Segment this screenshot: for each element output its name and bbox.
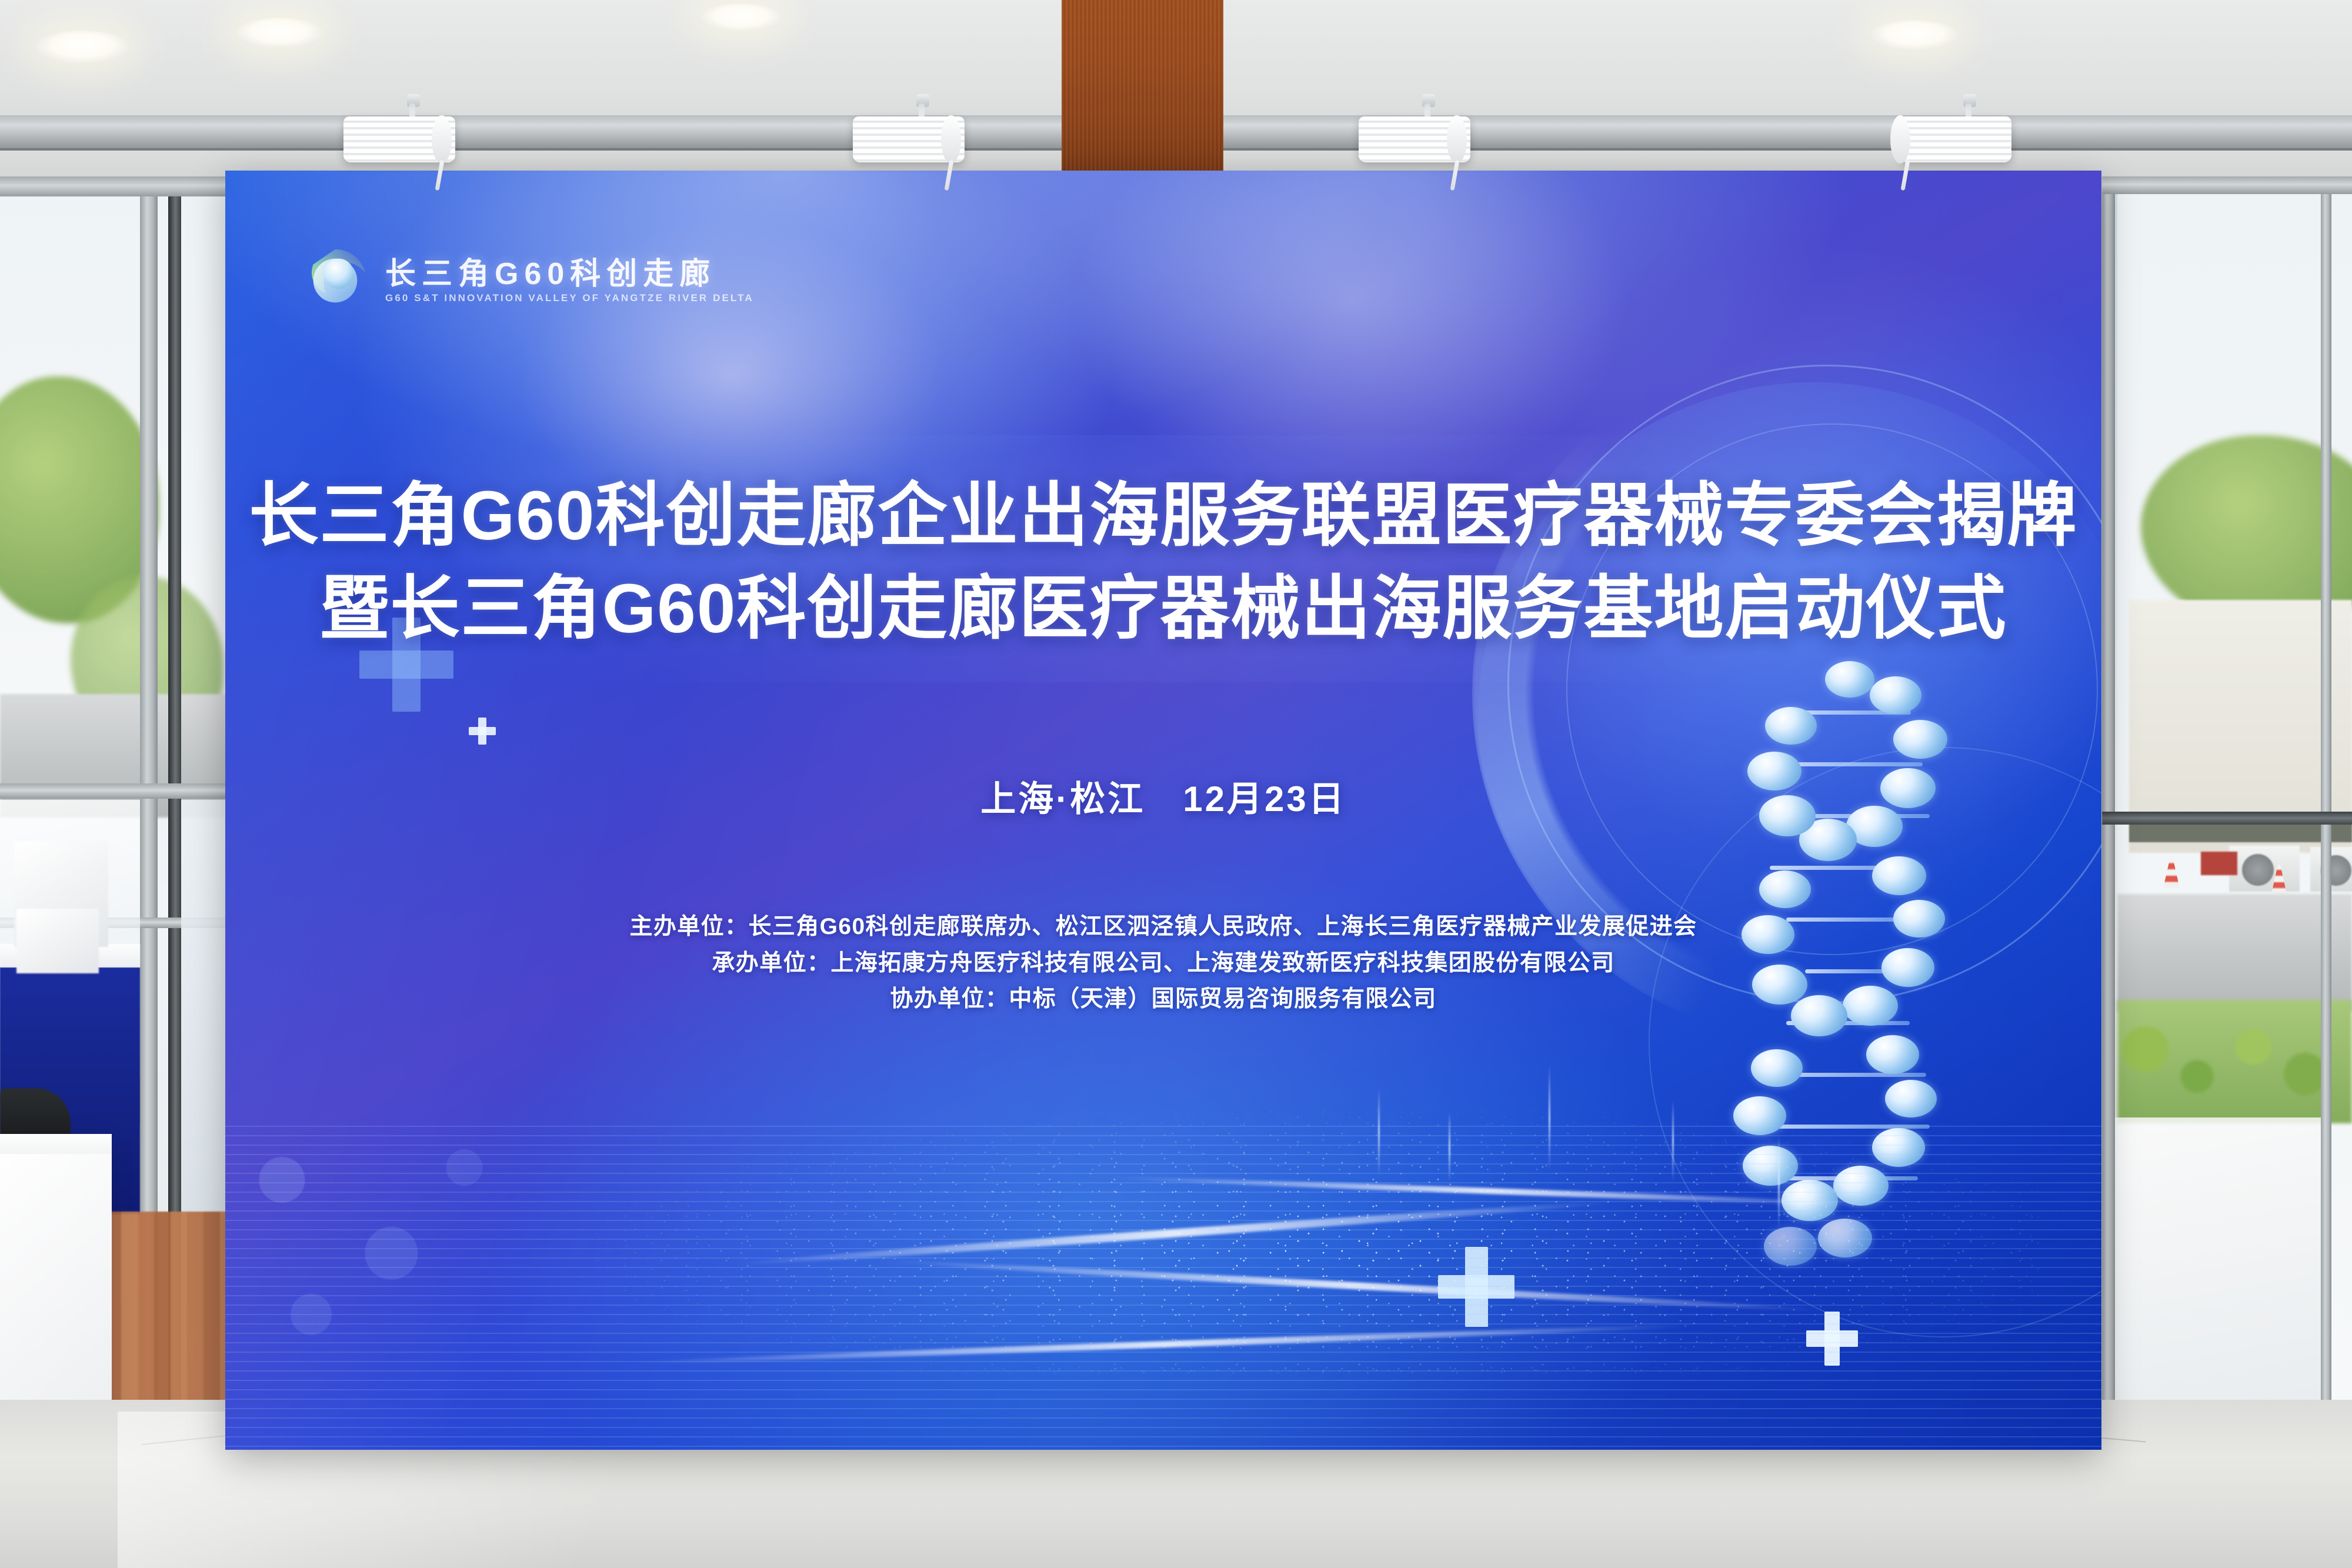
window-mullion-vertical: [2102, 176, 2115, 1568]
spotlight-cap: [1447, 115, 1467, 164]
window-mullion-horizontal: [0, 176, 247, 196]
window-mullion-horizontal: [2102, 812, 2352, 825]
ceiling-downlight: [700, 4, 782, 32]
spotlight-cord: [1901, 160, 1910, 191]
g60-logo-name-en: G60 S&T INNOVATION VALLEY OF YANGTZE RIV…: [385, 293, 754, 303]
medical-cross-icon: [469, 718, 496, 745]
event-backdrop-banner: 长三角G60科创走廊 G60 S&T INNOVATION VALLEY OF …: [225, 171, 2101, 1450]
white-display-plinth-top: [0, 1134, 112, 1154]
spotlight-cap: [941, 115, 961, 164]
banner-bottom-line-pattern: [225, 1117, 2101, 1450]
banner-date-location: 上海·松江 12月23日: [225, 770, 2101, 822]
prop-letter-display: [16, 909, 99, 973]
ceiling-downlight: [235, 18, 323, 48]
event-photo-scene: 长三角G60科创走廊 G60 S&T INNOVATION VALLEY OF …: [0, 0, 2352, 1568]
outdoor-road: [0, 694, 235, 818]
organizer-line-coorganizer: 协办单位：中标（天津）国际贸易咨询服务有限公司: [225, 981, 2101, 1017]
banner-organizers: 主办单位：长三角G60科创走廊联席办、松江区泗泾镇人民政府、上海长三角医疗器械产…: [225, 909, 2101, 1017]
spotlight-cord: [945, 160, 954, 191]
spotlight-cap: [1890, 115, 1910, 164]
wood-column: [1062, 0, 1223, 176]
window-mullion-vertical: [2321, 176, 2331, 1568]
stage-spotlight: [1900, 104, 2011, 192]
window-mullion-horizontal: [0, 783, 247, 799]
ac-fan: [2242, 854, 2274, 886]
stage-spotlight: [1359, 104, 1470, 192]
spotlight-cap: [432, 115, 452, 164]
g60-logo-name-cn: 长三角G60科创走廊: [385, 259, 754, 289]
spotlight-cord: [1450, 160, 1460, 191]
organizer-line-host: 主办单位：长三角G60科创走廊联席办、松江区泗泾镇人民政府、上海长三角医疗器械产…: [225, 909, 2101, 945]
ceiling-downlight: [35, 31, 129, 64]
spotlight-cord: [435, 160, 445, 191]
outdoor-building-band: [2129, 823, 2352, 842]
spotlight-body: [1900, 116, 2011, 162]
banner-title-line-2: 暨长三角G60科创走廊医疗器械出海服务基地启动仪式: [225, 562, 2101, 655]
outdoor-road: [2117, 894, 2352, 1012]
window-mullion-horizontal: [2102, 176, 2352, 194]
g60-logo-mark: [301, 246, 370, 315]
g60-logo-text: 长三角G60科创走廊 G60 S&T INNOVATION VALLEY OF …: [385, 259, 754, 303]
outdoor-hedge: [2117, 1000, 2352, 1123]
red-signboard: [2201, 852, 2237, 875]
stage-spotlight: [343, 104, 455, 192]
banner-title-line-1: 长三角G60科创走廊企业出海服务联盟医疗器械专委会揭牌: [225, 469, 2101, 562]
organizer-line-undertaker: 承办单位：上海拓康方舟医疗科技有限公司、上海建发致新医疗科技集团股份有限公司: [225, 945, 2101, 982]
stage-spotlight: [853, 104, 965, 192]
g60-logo: 长三角G60科创走廊 G60 S&T INNOVATION VALLEY OF …: [301, 246, 754, 315]
banner-title: 长三角G60科创走廊企业出海服务联盟医疗器械专委会揭牌 暨长三角G60科创走廊医…: [225, 469, 2101, 655]
ceiling-downlight: [1870, 20, 1959, 51]
